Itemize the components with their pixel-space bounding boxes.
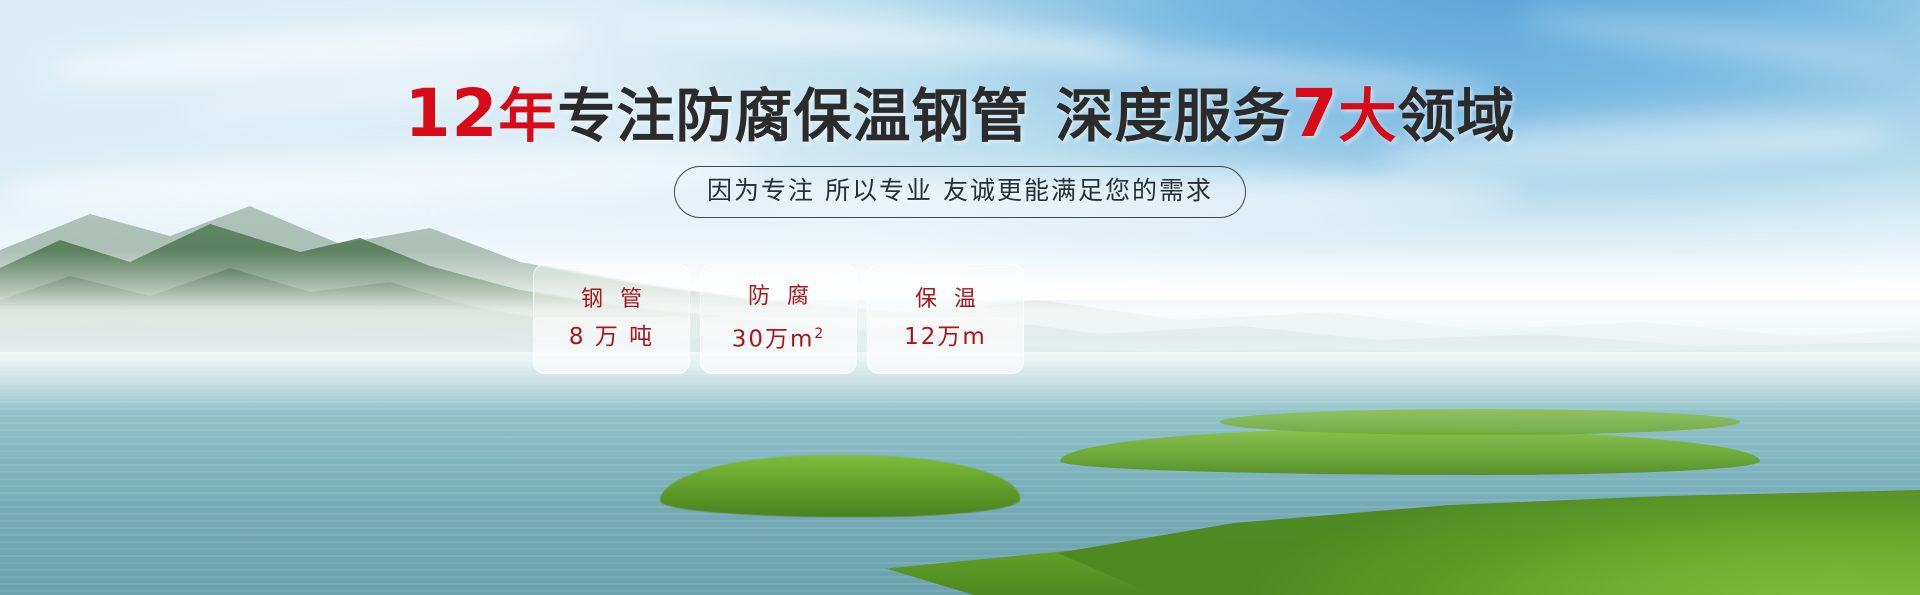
headline-fields-number: 7 bbox=[1291, 75, 1338, 152]
promo-banner: 12年专注防腐保温钢管深度服务7大领域 因为专注 所以专业 友诚更能满足您的需求… bbox=[0, 0, 1920, 595]
stat-card-value: 30万m2 bbox=[732, 321, 826, 353]
headline-main-text: 专注防腐保温钢管 bbox=[557, 82, 1029, 150]
headline-second-text: 深度服务 bbox=[1055, 82, 1291, 150]
stat-card-title: 保 温 bbox=[910, 288, 981, 312]
marsh-vegetation bbox=[1220, 409, 1740, 435]
headline-tail-text: 领域 bbox=[1397, 82, 1515, 150]
stat-card-row: 钢 管 8 万 吨 防 腐 30万m2 保 温 12万m bbox=[533, 264, 1024, 374]
subtitle-pill: 因为专注 所以专业 友诚更能满足您的需求 bbox=[674, 166, 1246, 218]
subtitle-row: 因为专注 所以专业 友诚更能满足您的需求 bbox=[0, 166, 1920, 218]
stat-card-anticorrosion[interactable]: 防 腐 30万m2 bbox=[700, 264, 857, 374]
headline-fields-unit: 大 bbox=[1338, 82, 1397, 150]
headline-years-number: 12 bbox=[405, 75, 499, 152]
stat-card-value: 8 万 吨 bbox=[569, 324, 654, 350]
stat-card-value-text: 8 万 吨 bbox=[569, 324, 654, 350]
stat-card-title: 钢 管 bbox=[576, 288, 647, 312]
stat-card-title: 防 腐 bbox=[743, 285, 814, 309]
stat-card-insulation[interactable]: 保 温 12万m bbox=[867, 264, 1024, 374]
stat-card-steel-pipe[interactable]: 钢 管 8 万 吨 bbox=[533, 264, 690, 374]
headline-years-unit: 年 bbox=[498, 82, 557, 150]
banner-headline: 12年专注防腐保温钢管深度服务7大领域 bbox=[0, 82, 1920, 148]
stat-card-value: 12万m bbox=[904, 324, 987, 350]
stat-card-value-superscript: 2 bbox=[814, 326, 825, 342]
stat-card-value-text: 12万m bbox=[904, 324, 987, 350]
stat-card-value-text: 30万m bbox=[732, 327, 815, 353]
